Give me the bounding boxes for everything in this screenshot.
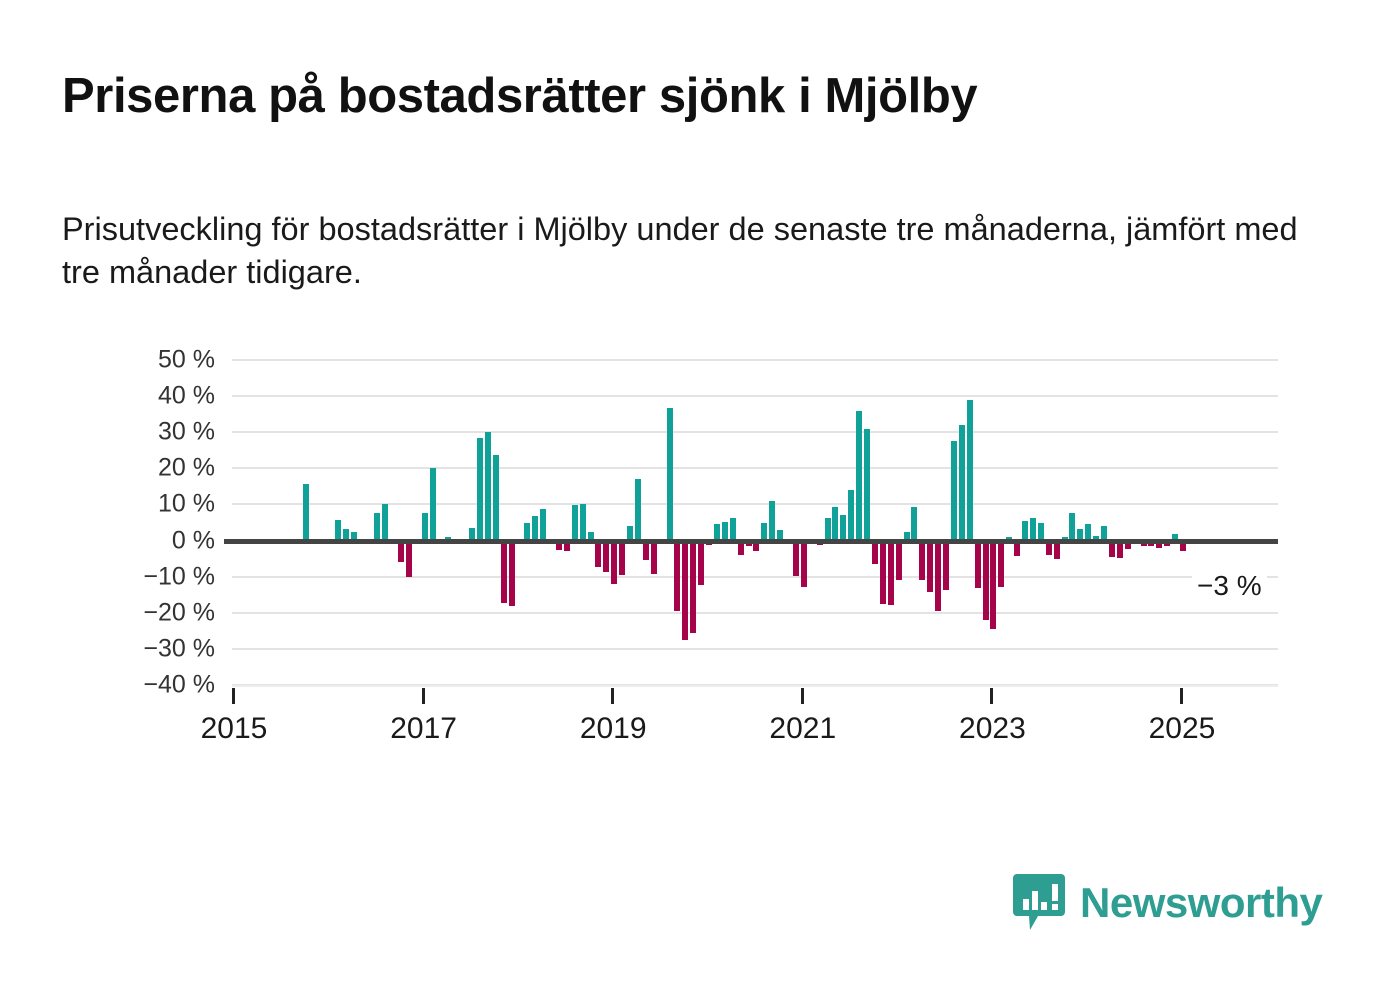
gridline bbox=[232, 648, 1278, 650]
page-title: Priserna på bostadsrätter sjönk i Mjölby bbox=[62, 68, 1342, 124]
bar bbox=[935, 541, 941, 611]
x-axis-tick bbox=[1180, 688, 1183, 704]
bar bbox=[501, 541, 507, 603]
bar bbox=[682, 541, 688, 641]
bar bbox=[975, 541, 981, 589]
bar bbox=[477, 438, 483, 541]
bar bbox=[374, 513, 380, 540]
bar bbox=[532, 516, 538, 541]
gridline bbox=[232, 431, 1278, 433]
bar bbox=[967, 400, 973, 541]
bar bbox=[595, 541, 601, 567]
gridline bbox=[232, 395, 1278, 397]
bar bbox=[422, 513, 428, 540]
y-axis-tick-label: 0 % bbox=[0, 526, 215, 555]
x-axis-tick bbox=[990, 688, 993, 704]
gridline bbox=[232, 467, 1278, 469]
y-axis-tick-label: −40 % bbox=[0, 671, 215, 700]
x-axis-tick bbox=[801, 688, 804, 704]
bar bbox=[998, 541, 1004, 587]
x-axis-tick-label: 2025 bbox=[1149, 712, 1216, 746]
y-axis-tick-label: −30 % bbox=[0, 634, 215, 663]
gridline bbox=[232, 612, 1278, 614]
bar bbox=[840, 515, 846, 541]
bar bbox=[872, 541, 878, 564]
bar bbox=[493, 455, 499, 541]
bar bbox=[896, 541, 902, 580]
y-axis-tick-label: 20 % bbox=[0, 454, 215, 483]
bar bbox=[667, 408, 673, 541]
bar bbox=[801, 541, 807, 587]
gridline bbox=[232, 576, 1278, 578]
x-axis-tick bbox=[422, 688, 425, 704]
x-axis-labels: 201520172019202120232025 bbox=[0, 712, 1382, 756]
bar bbox=[864, 429, 870, 541]
bar bbox=[848, 490, 854, 541]
y-axis-tick-label: 30 % bbox=[0, 418, 215, 447]
x-axis-tick bbox=[232, 688, 235, 704]
bar bbox=[959, 425, 965, 541]
last-value-annotation: −3 % bbox=[1192, 569, 1267, 603]
bar-chart: 50 %40 %30 %20 %10 %0 %−10 %−20 %−30 %−4… bbox=[0, 360, 1382, 760]
bar bbox=[382, 504, 388, 540]
bar bbox=[888, 541, 894, 605]
x-axis-tick bbox=[611, 688, 614, 704]
x-axis-tick-label: 2017 bbox=[390, 712, 457, 746]
bar bbox=[1030, 518, 1036, 541]
y-axis-tick-label: −10 % bbox=[0, 562, 215, 591]
speech-bubble-bar-chart-icon bbox=[1012, 872, 1066, 934]
bar bbox=[911, 507, 917, 540]
bar bbox=[983, 541, 989, 620]
x-axis-ticks bbox=[232, 685, 1286, 707]
x-axis-tick-label: 2015 bbox=[201, 712, 268, 746]
plot-area: −3 % bbox=[232, 360, 1278, 685]
bar bbox=[619, 541, 625, 575]
bar bbox=[690, 541, 696, 633]
bar bbox=[540, 509, 546, 541]
bar bbox=[635, 479, 641, 540]
logo-wordmark: Newsworthy bbox=[1080, 882, 1322, 924]
infographic-page: Priserna på bostadsrätter sjönk i Mjölby… bbox=[0, 0, 1382, 999]
bar bbox=[572, 505, 578, 540]
bar bbox=[769, 501, 775, 541]
bar bbox=[698, 541, 704, 585]
page-subtitle: Prisutveckling för bostadsrätter i Mjölb… bbox=[62, 208, 1322, 294]
bar bbox=[674, 541, 680, 611]
bar bbox=[825, 518, 831, 540]
bar bbox=[485, 432, 491, 540]
bar bbox=[398, 541, 404, 563]
bar bbox=[303, 484, 309, 541]
bar bbox=[927, 541, 933, 593]
x-axis-tick-label: 2023 bbox=[959, 712, 1026, 746]
bar bbox=[603, 541, 609, 572]
y-axis-labels: 50 %40 %30 %20 %10 %0 %−10 %−20 %−30 %−4… bbox=[0, 360, 215, 700]
y-axis-tick-label: −20 % bbox=[0, 598, 215, 627]
bar bbox=[943, 541, 949, 591]
bar bbox=[611, 541, 617, 584]
y-axis-tick-label: 40 % bbox=[0, 382, 215, 411]
gridline bbox=[232, 503, 1278, 505]
bar bbox=[1069, 513, 1075, 540]
bar bbox=[335, 520, 341, 540]
bar bbox=[990, 541, 996, 629]
bar bbox=[919, 541, 925, 581]
bar bbox=[580, 504, 586, 541]
gridline bbox=[232, 359, 1278, 361]
zero-line bbox=[224, 539, 1278, 544]
bar bbox=[509, 541, 515, 606]
bar bbox=[406, 541, 412, 578]
newsworthy-logo[interactable]: Newsworthy bbox=[1012, 872, 1322, 934]
bar bbox=[951, 441, 957, 540]
bar bbox=[856, 411, 862, 541]
bar bbox=[793, 541, 799, 577]
bar bbox=[730, 518, 736, 540]
x-axis-tick-label: 2021 bbox=[769, 712, 836, 746]
y-axis-tick-label: 50 % bbox=[0, 346, 215, 375]
bar bbox=[430, 468, 436, 540]
bar bbox=[880, 541, 886, 605]
y-axis-tick-label: 10 % bbox=[0, 490, 215, 519]
bar bbox=[832, 507, 838, 540]
x-axis-rule bbox=[232, 685, 1278, 687]
bar bbox=[651, 541, 657, 574]
x-axis-tick-label: 2019 bbox=[580, 712, 647, 746]
